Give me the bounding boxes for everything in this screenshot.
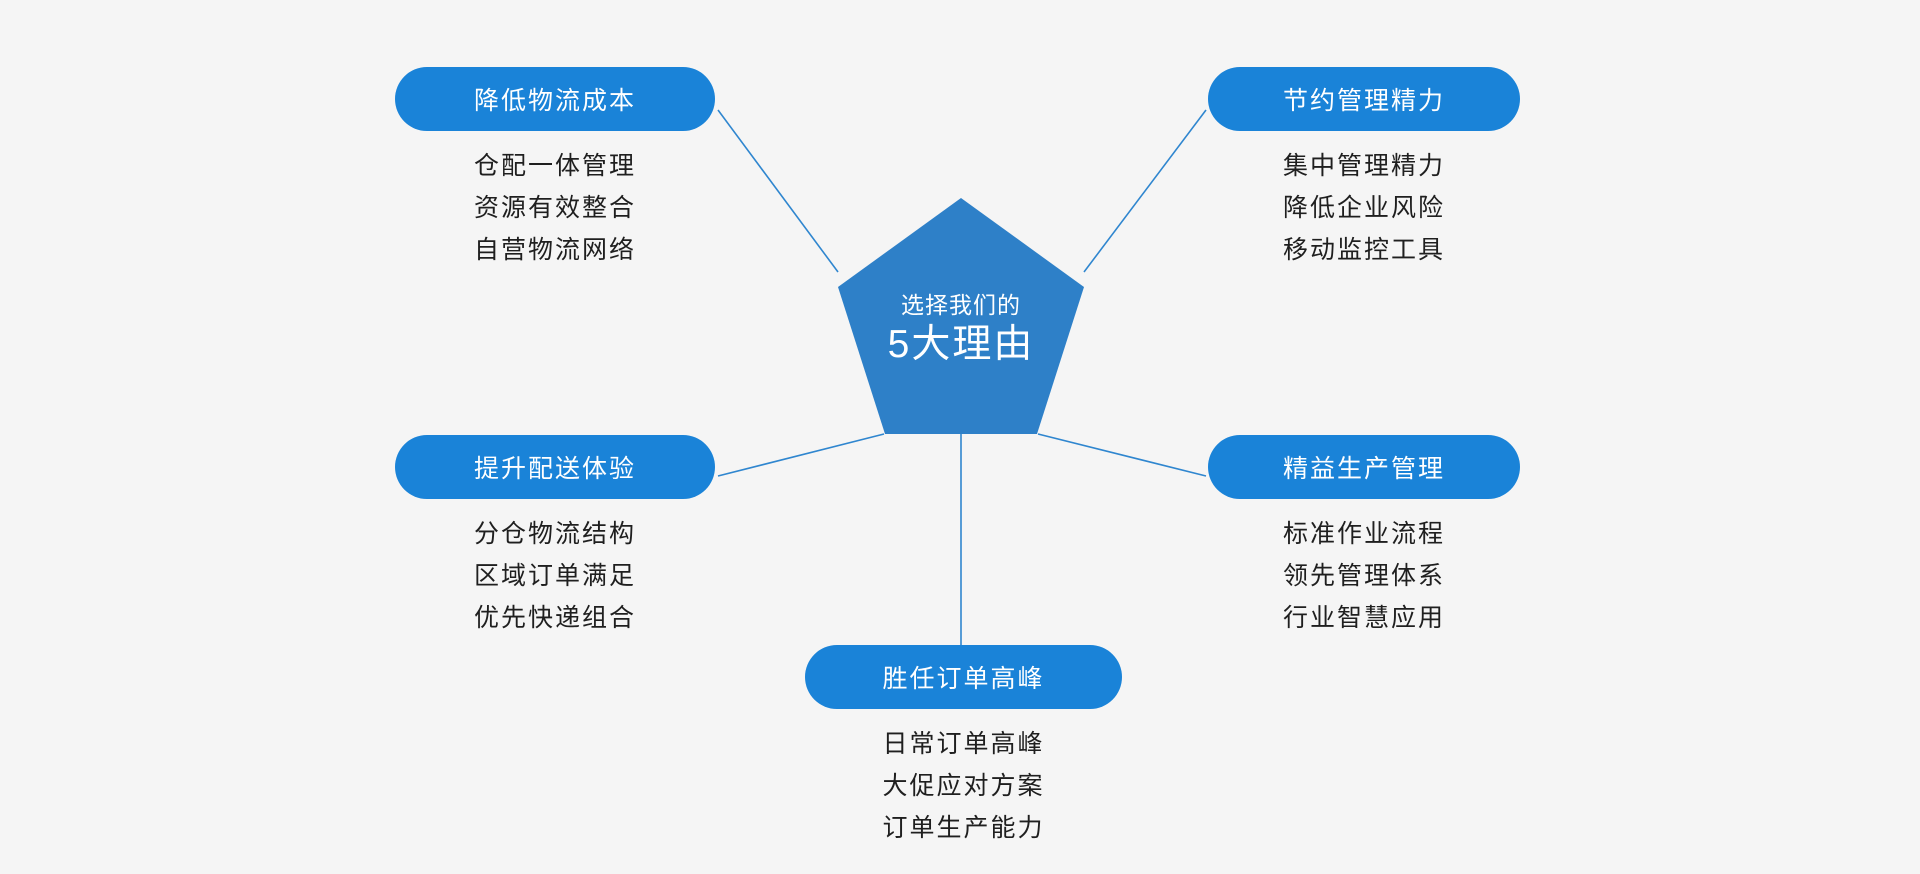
connector-to-lower-logistics-cost — [718, 110, 838, 272]
branch-items-lower-logistics-cost: 仓配一体管理 资源有效整合 自营物流网络 — [395, 145, 715, 271]
branch-item: 分仓物流结构 — [395, 513, 715, 555]
branch-item: 日常订单高峰 — [805, 723, 1122, 765]
branch-item: 自营物流网络 — [395, 229, 715, 271]
branch-lean-production: 精益生产管理 标准作业流程 领先管理体系 行业智慧应用 — [1208, 435, 1520, 639]
center-pentagon-node: 选择我们的 5大理由 — [836, 196, 1086, 438]
branch-items-delivery-experience: 分仓物流结构 区域订单满足 优先快递组合 — [395, 513, 715, 639]
diagram-canvas: 选择我们的 5大理由 降低物流成本 仓配一体管理 资源有效整合 自营物流网络 节… — [0, 0, 1920, 874]
branch-title-save-management[interactable]: 节约管理精力 — [1208, 67, 1520, 131]
branch-item: 移动监控工具 — [1208, 229, 1520, 271]
connector-to-delivery-experience — [718, 434, 884, 476]
branch-item: 仓配一体管理 — [395, 145, 715, 187]
branch-items-lean-production: 标准作业流程 领先管理体系 行业智慧应用 — [1208, 513, 1520, 639]
branch-item: 订单生产能力 — [805, 807, 1122, 849]
branch-item: 区域订单满足 — [395, 555, 715, 597]
center-title-line2: 5大理由 — [888, 320, 1035, 370]
connector-to-save-management — [1084, 110, 1206, 272]
branch-delivery-experience: 提升配送体验 分仓物流结构 区域订单满足 优先快递组合 — [395, 435, 715, 639]
branch-item: 优先快递组合 — [395, 597, 715, 639]
connector-to-lean-production — [1038, 434, 1206, 476]
branch-title-delivery-experience[interactable]: 提升配送体验 — [395, 435, 715, 499]
center-title-line1: 选择我们的 — [901, 290, 1021, 320]
branch-items-order-peak: 日常订单高峰 大促应对方案 订单生产能力 — [805, 723, 1122, 849]
branch-item: 大促应对方案 — [805, 765, 1122, 807]
branch-item: 领先管理体系 — [1208, 555, 1520, 597]
branch-items-save-management: 集中管理精力 降低企业风险 移动监控工具 — [1208, 145, 1520, 271]
branch-lower-logistics-cost: 降低物流成本 仓配一体管理 资源有效整合 自营物流网络 — [395, 67, 715, 271]
branch-title-order-peak[interactable]: 胜任订单高峰 — [805, 645, 1122, 709]
branch-order-peak: 胜任订单高峰 日常订单高峰 大促应对方案 订单生产能力 — [805, 645, 1122, 849]
branch-title-lean-production[interactable]: 精益生产管理 — [1208, 435, 1520, 499]
branch-item: 资源有效整合 — [395, 187, 715, 229]
branch-item: 降低企业风险 — [1208, 187, 1520, 229]
branch-save-management: 节约管理精力 集中管理精力 降低企业风险 移动监控工具 — [1208, 67, 1520, 271]
branch-item: 标准作业流程 — [1208, 513, 1520, 555]
branch-item: 集中管理精力 — [1208, 145, 1520, 187]
branch-item: 行业智慧应用 — [1208, 597, 1520, 639]
center-label: 选择我们的 5大理由 — [836, 196, 1086, 438]
branch-title-lower-logistics-cost[interactable]: 降低物流成本 — [395, 67, 715, 131]
